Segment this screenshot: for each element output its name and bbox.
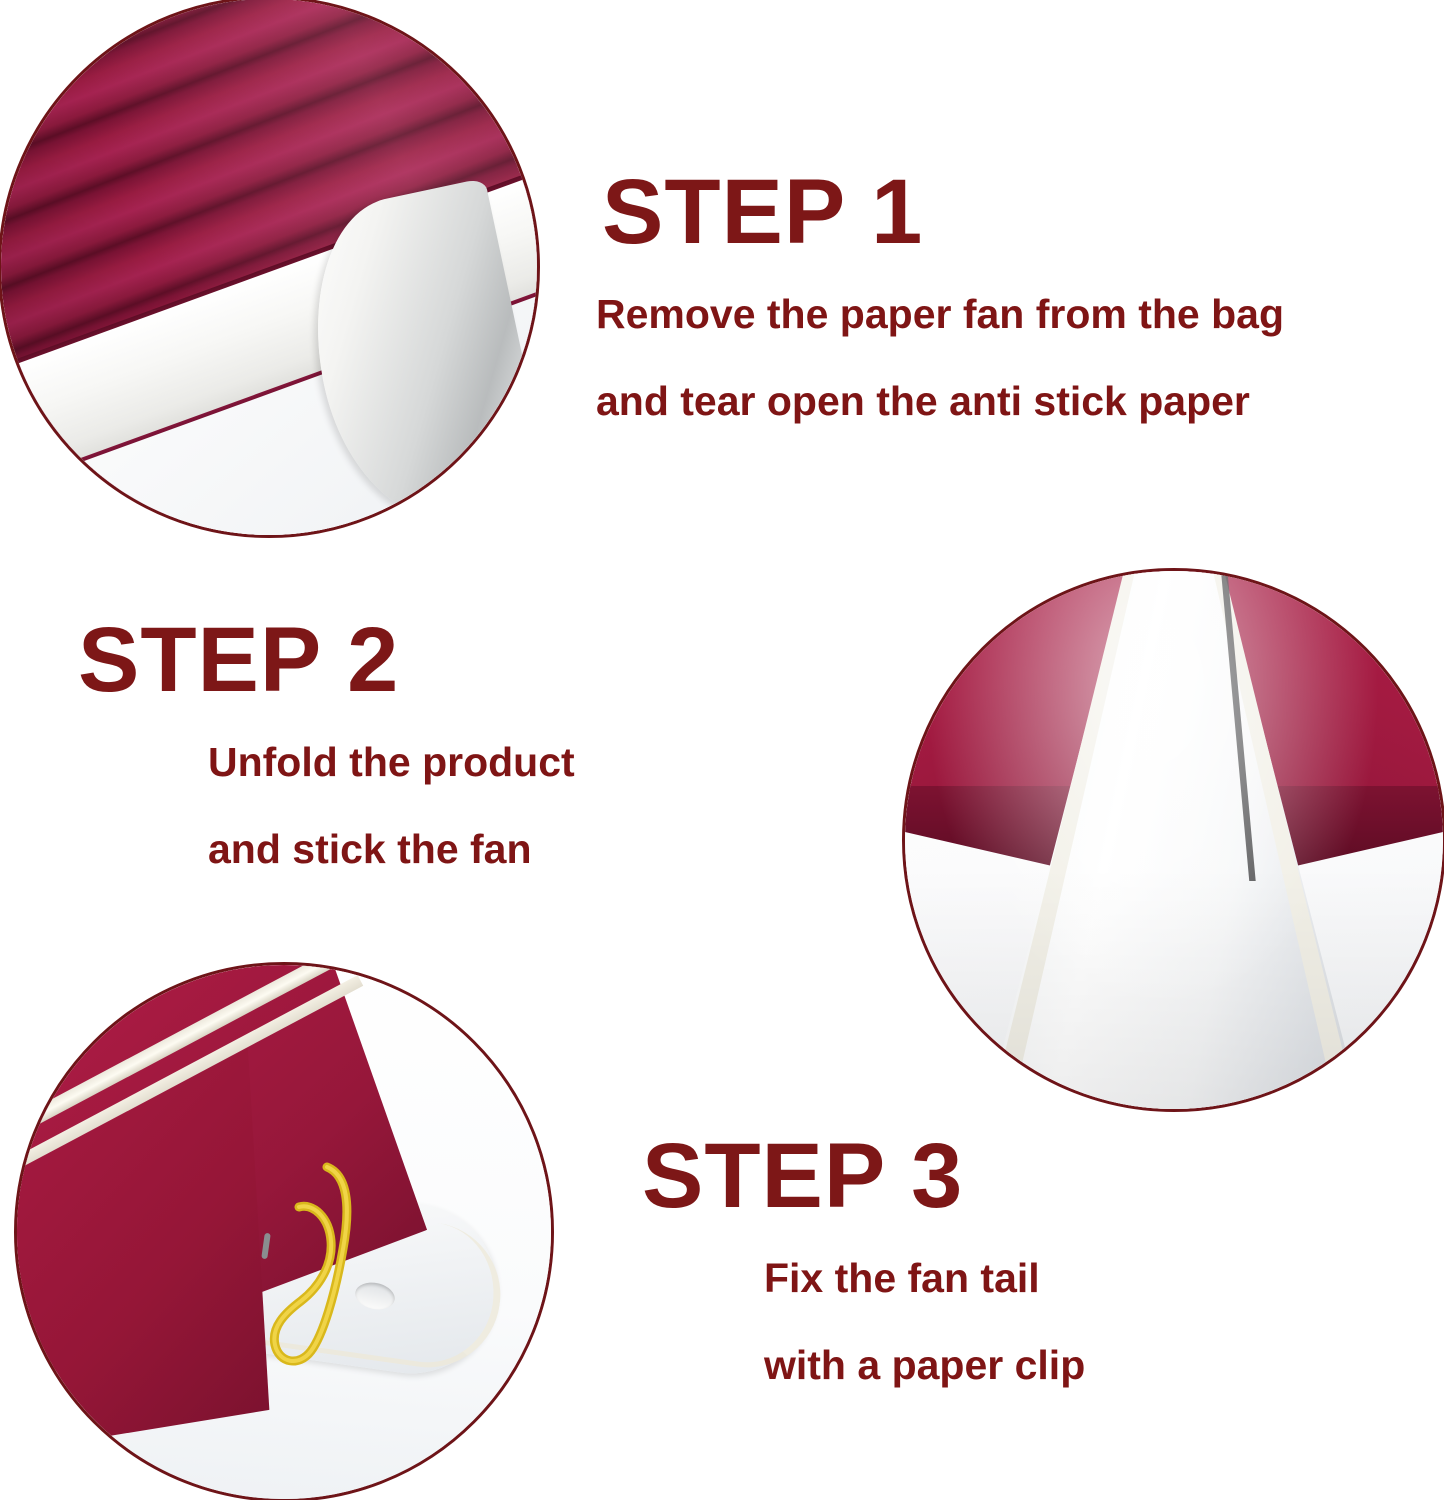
- step-2-line-1: Unfold the product: [208, 742, 575, 783]
- step-2-photo-circle: [902, 568, 1444, 1112]
- photo-shading: [905, 571, 1443, 1109]
- step-1-body: Remove the paper fan from the bag and te…: [596, 294, 1284, 422]
- step-2-title: STEP 2: [78, 614, 575, 706]
- unfolded-paper-fan-cone-photo: [905, 571, 1443, 1109]
- step-3-text-block: STEP 3 Fix the fan tail with a paper cli…: [642, 1130, 1085, 1386]
- step-2-line-2: and stick the fan: [208, 829, 575, 870]
- step-1-photo-circle: [0, 0, 540, 538]
- fan-tail-with-paper-clip-photo: [17, 965, 551, 1499]
- step-1-title: STEP 1: [602, 166, 1284, 258]
- pleated-fan-with-adhesive-strip-photo: [1, 0, 537, 535]
- paper-clip-icon: [261, 1145, 355, 1381]
- instruction-poster: STEP 1 Remove the paper fan from the bag…: [0, 0, 1444, 1500]
- step-2-text-block: STEP 2 Unfold the product and stick the …: [78, 614, 575, 870]
- step-3-line-2: with a paper clip: [764, 1345, 1085, 1386]
- step-1-text-block: STEP 1 Remove the paper fan from the bag…: [596, 166, 1284, 422]
- step-3-photo-circle: [14, 962, 554, 1500]
- step-2-body: Unfold the product and stick the fan: [208, 742, 575, 870]
- step-1-line-1: Remove the paper fan from the bag: [596, 294, 1284, 335]
- step-3-body: Fix the fan tail with a paper clip: [764, 1258, 1085, 1386]
- step-3-line-1: Fix the fan tail: [764, 1258, 1085, 1299]
- step-1-line-2: and tear open the anti stick paper: [596, 381, 1284, 422]
- step-3-title: STEP 3: [642, 1130, 1085, 1222]
